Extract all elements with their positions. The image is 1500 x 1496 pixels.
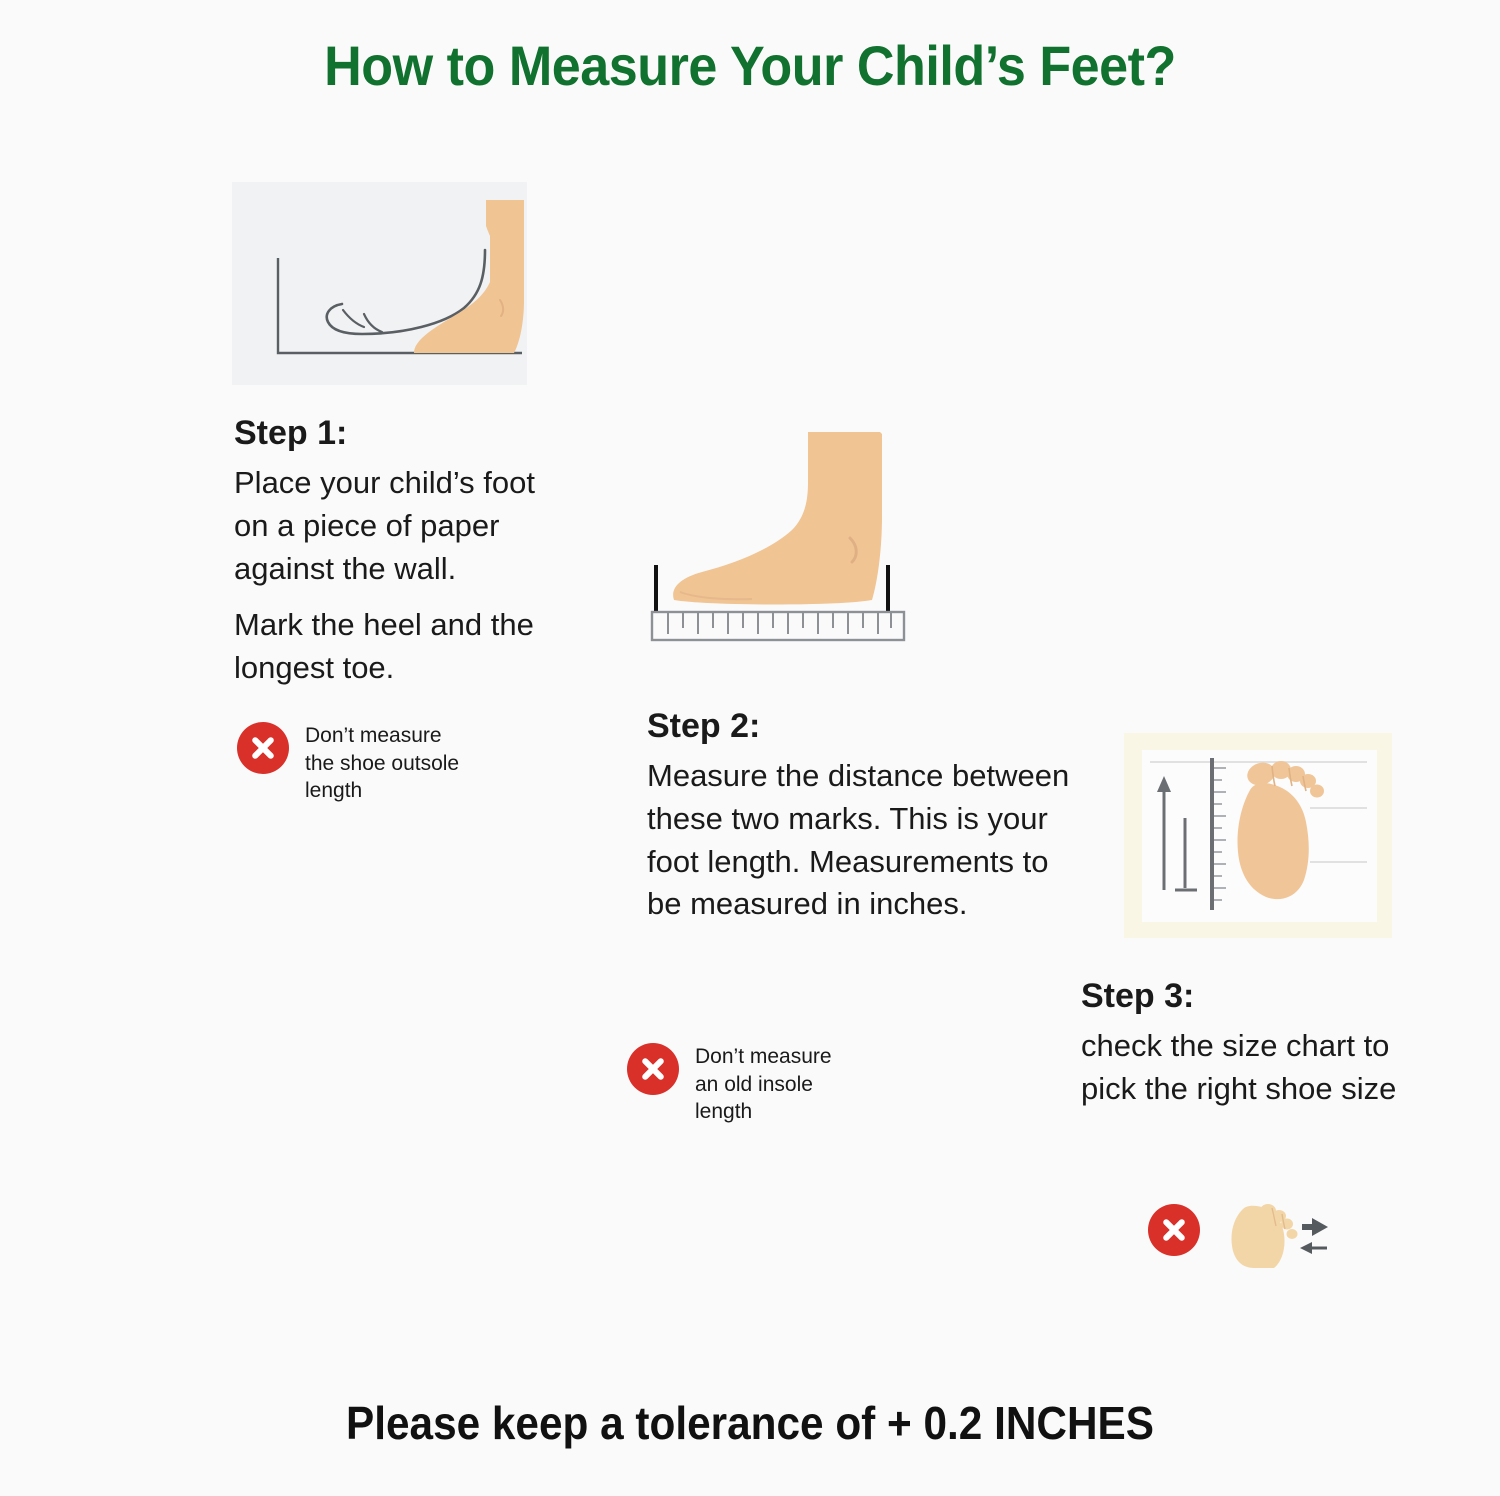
foot-measure-arrows-icon	[1224, 1198, 1329, 1273]
foot-with-arrows-glyph	[1224, 1198, 1329, 1273]
step-2-warning: Don’t measure an old insole length	[627, 1043, 937, 1126]
step-3-body-line-1: check the size chart to pick the right s…	[1081, 1025, 1411, 1111]
step-3-title: Step 3:	[1081, 977, 1194, 1016]
cross-icon	[237, 722, 289, 774]
size-chart-panel	[1142, 750, 1377, 922]
cross-icon	[627, 1043, 679, 1095]
step-1-body: Place your child’s foot on a piece of pa…	[234, 462, 564, 690]
infographic-page: How to Measure Your Child’s Feet? Step 1…	[0, 0, 1500, 1496]
step-1-warning-text: Don’t measure the shoe outsole length	[305, 722, 459, 805]
foot-sole-chart-diagram	[1142, 750, 1377, 922]
step-1-body-line-1: Place your child’s foot on a piece of pa…	[234, 462, 564, 590]
foot-against-wall-diagram	[232, 182, 527, 385]
step-3-warning	[1148, 1204, 1200, 1256]
step-1-illustration	[232, 182, 527, 385]
foot-with-ruler-diagram	[640, 420, 940, 660]
step-3-body: check the size chart to pick the right s…	[1081, 1025, 1411, 1111]
step-1-title: Step 1:	[234, 414, 347, 453]
step-1-warning: Don’t measure the shoe outsole length	[237, 722, 537, 805]
step-2-title: Step 2:	[647, 707, 760, 746]
step-2-body: Measure the distance between these two m…	[647, 755, 1077, 926]
page-title: How to Measure Your Child’s Feet?	[53, 33, 1448, 98]
tolerance-note: Please keep a tolerance of + 0.2 INCHES	[60, 1396, 1440, 1450]
step-3-illustration	[1124, 733, 1392, 938]
step-1-body-line-2: Mark the heel and the longest toe.	[234, 604, 564, 690]
cross-icon	[1148, 1204, 1200, 1256]
step-2-body-line-1: Measure the distance between these two m…	[647, 755, 1077, 926]
step-2-warning-text: Don’t measure an old insole length	[695, 1043, 832, 1126]
step-2-illustration	[640, 420, 940, 660]
